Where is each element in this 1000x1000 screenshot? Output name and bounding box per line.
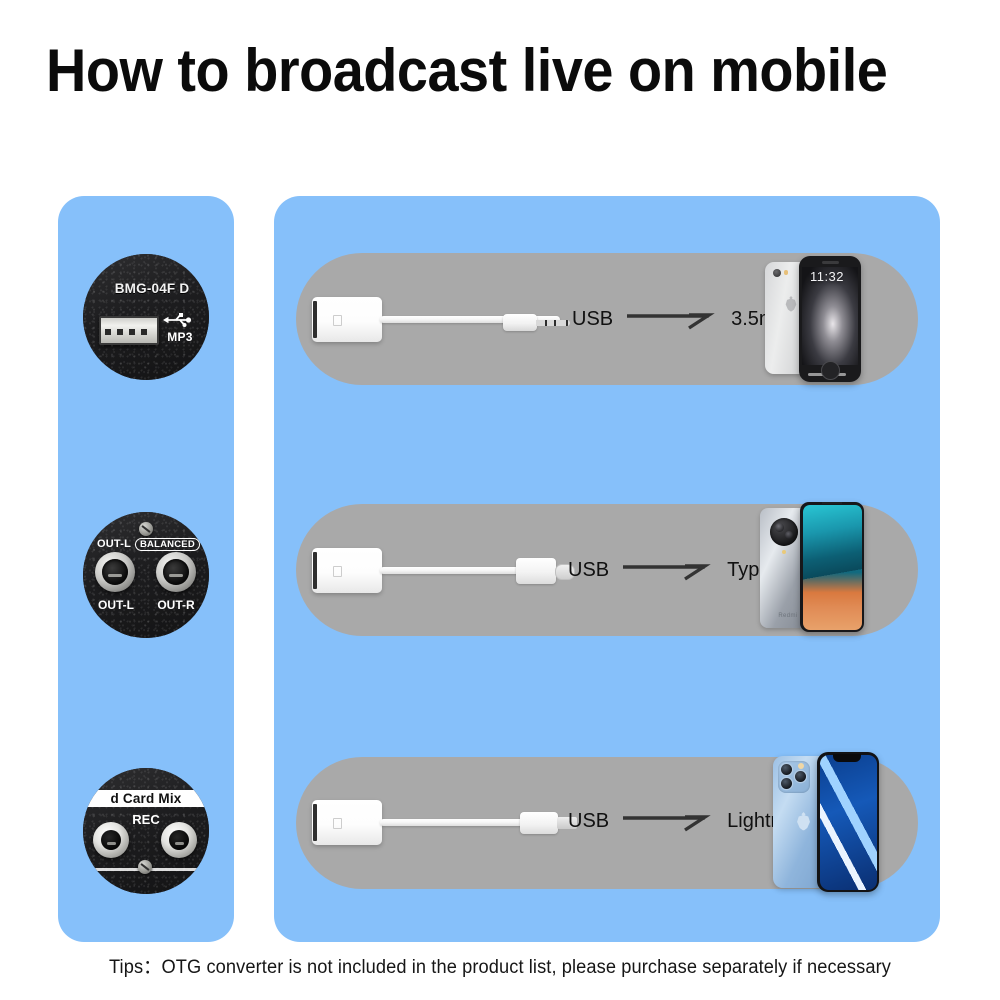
photo-balanced-outputs: OUT-L BALANCED OUT-L OUT-R (83, 512, 209, 638)
source-label-usb: USB (568, 559, 609, 582)
otg-adapter-cable (380, 567, 532, 574)
balanced-badge: BALANCED (135, 538, 200, 551)
otg-adapter-body (312, 297, 382, 342)
footer-tip: Tips：OTG converter is not included in th… (20, 952, 980, 979)
photo-rec-rca-jacks: d Card Mix REC (83, 768, 209, 894)
label-row-3-5mm: USB 3.5mm (572, 308, 792, 331)
iphone-13-wallpaper (820, 755, 877, 890)
rca-jack-left (93, 822, 129, 858)
flash-icon (798, 763, 804, 769)
rec-label: REC (125, 812, 167, 827)
trs-jack-right (156, 552, 196, 592)
notch-icon (833, 754, 861, 762)
flash-icon (784, 270, 788, 275)
plug-barrel (503, 314, 537, 331)
otg-adapter-cable (380, 819, 532, 826)
redmi-front (800, 502, 864, 632)
trs-jack-left (95, 552, 135, 592)
sound-card-mix-label: d Card Mix (83, 790, 209, 807)
plug-tip (536, 320, 570, 326)
camera-lens-icon (795, 771, 806, 782)
out-r-label: OUT-R (155, 598, 197, 612)
arrow-right-icon (623, 560, 715, 582)
camera-module-icon (770, 518, 798, 546)
apple-logo-icon (795, 812, 812, 831)
iphone-6s-front: 11:32 (799, 256, 861, 382)
usb-trident-icon (163, 312, 193, 328)
home-button-icon (821, 361, 840, 380)
device-model-label: BMG-04F D (90, 281, 209, 296)
source-label-usb: USB (572, 308, 613, 331)
apple-logo-icon (784, 296, 798, 312)
usb-a-port (99, 316, 159, 345)
arrow-right-icon (627, 309, 719, 331)
otg-adapter-body (312, 548, 382, 593)
plug-barrel (516, 558, 556, 584)
otg-adapter-body (312, 800, 382, 845)
redmi-wallpaper (803, 505, 862, 630)
page-title: How to broadcast live on mobile (46, 36, 911, 106)
camera-module-icon (778, 761, 810, 793)
flash-icon (782, 550, 786, 554)
camera-lens-icon (781, 764, 792, 775)
camera-icon (773, 269, 781, 277)
lockscreen-clock: 11:32 (799, 269, 855, 284)
earpiece-icon (822, 261, 839, 264)
out-l-label: OUT-L (95, 598, 137, 612)
mp3-label: MP3 (159, 330, 201, 344)
popup-camera-icon (822, 502, 842, 504)
out-l-top-label: OUT-L (97, 538, 131, 550)
photo-usb-mp3-port: BMG-04F D MP3 (83, 254, 209, 380)
source-label-usb: USB (568, 810, 609, 833)
rca-jack-right (161, 822, 197, 858)
camera-lens-icon (781, 778, 792, 789)
iphone-13-pro-front (817, 752, 879, 892)
arrow-right-icon (623, 811, 715, 833)
screw-icon (138, 860, 152, 874)
screw-icon (139, 522, 153, 536)
plug-barrel (520, 812, 558, 834)
label-row-type-c: USB Type-C (568, 559, 792, 582)
